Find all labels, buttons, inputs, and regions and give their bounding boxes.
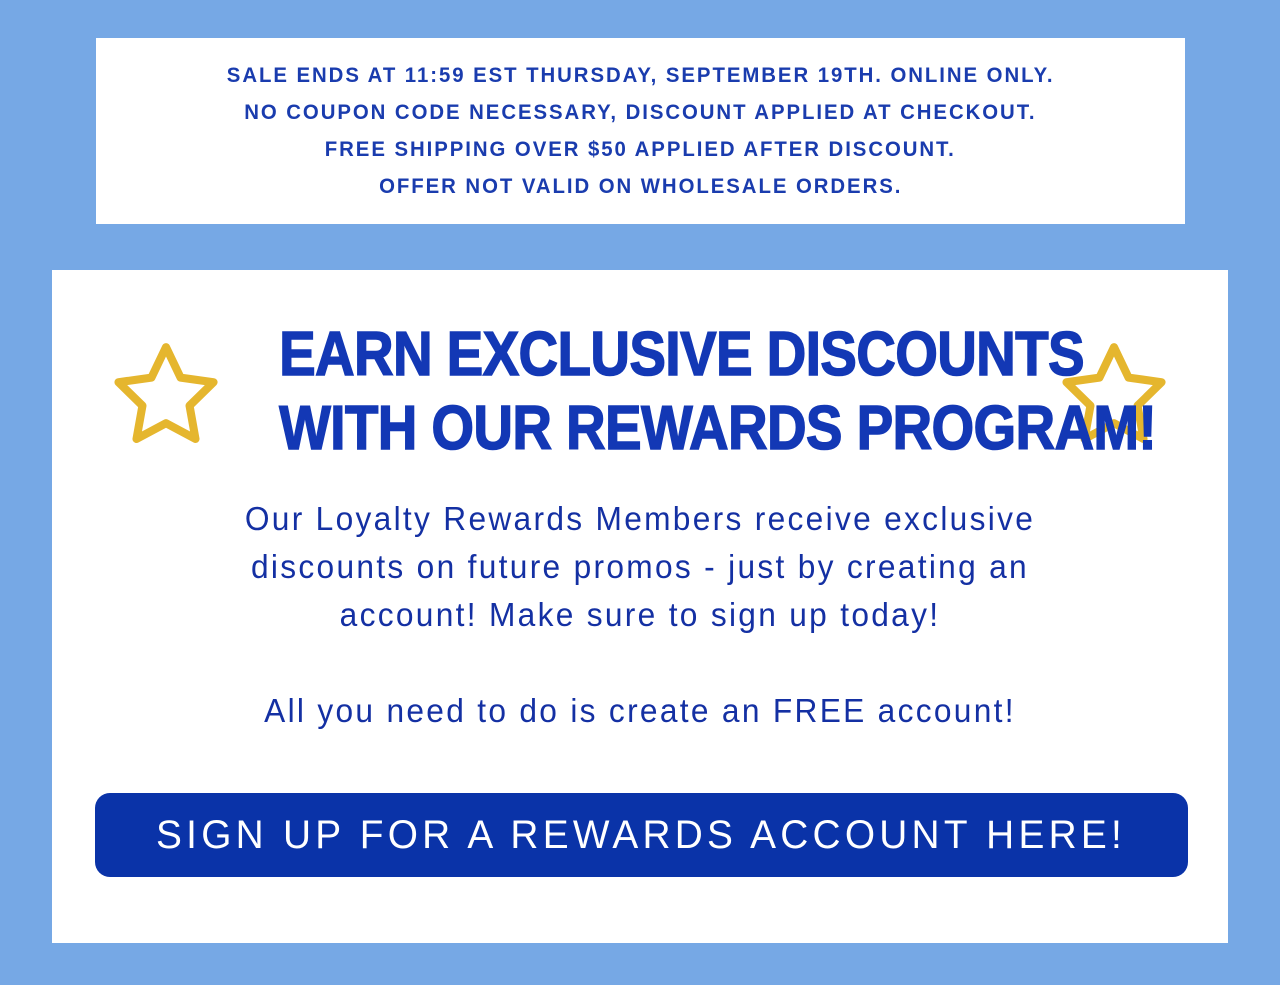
sale-terms-card: SALE ENDS AT 11:59 EST THURSDAY, SEPTEMB… bbox=[96, 38, 1185, 224]
paragraph2-line-1: All you need to do is create an FREE acc… bbox=[160, 687, 1120, 735]
headline-block: EARN EXCLUSIVE DISCOUNTS WITH OUR REWARD… bbox=[230, 318, 1050, 466]
headline-line-1: EARN EXCLUSIVE DISCOUNTS bbox=[279, 318, 1001, 392]
terms-line-1: SALE ENDS AT 11:59 EST THURSDAY, SEPTEMB… bbox=[227, 57, 1055, 94]
paragraph1-line-2: discounts on future promos - just by cre… bbox=[160, 543, 1120, 591]
terms-line-4: OFFER NOT VALID ON WHOLESALE ORDERS. bbox=[379, 168, 902, 205]
rewards-body-copy: Our Loyalty Rewards Members receive excl… bbox=[140, 495, 1140, 735]
terms-line-2: NO COUPON CODE NECESSARY, DISCOUNT APPLI… bbox=[244, 94, 1036, 131]
paragraph1-line-3: account! Make sure to sign up today! bbox=[160, 591, 1120, 639]
sign-up-rewards-button[interactable]: SIGN UP FOR A REWARDS ACCOUNT HERE! bbox=[95, 793, 1188, 877]
terms-line-3: FREE SHIPPING OVER $50 APPLIED AFTER DIS… bbox=[325, 131, 956, 168]
promo-email-page: SALE ENDS AT 11:59 EST THURSDAY, SEPTEMB… bbox=[0, 0, 1280, 985]
rewards-program-card: EARN EXCLUSIVE DISCOUNTS WITH OUR REWARD… bbox=[52, 270, 1228, 943]
sign-up-rewards-button-label: SIGN UP FOR A REWARDS ACCOUNT HERE! bbox=[156, 813, 1126, 858]
star-icon bbox=[112, 340, 220, 445]
paragraph-spacer bbox=[140, 639, 1140, 687]
paragraph1-line-1: Our Loyalty Rewards Members receive excl… bbox=[160, 495, 1120, 543]
headline-line-2: WITH OUR REWARDS PROGRAM! bbox=[279, 392, 1001, 466]
headline-row: EARN EXCLUSIVE DISCOUNTS WITH OUR REWARD… bbox=[52, 318, 1228, 466]
